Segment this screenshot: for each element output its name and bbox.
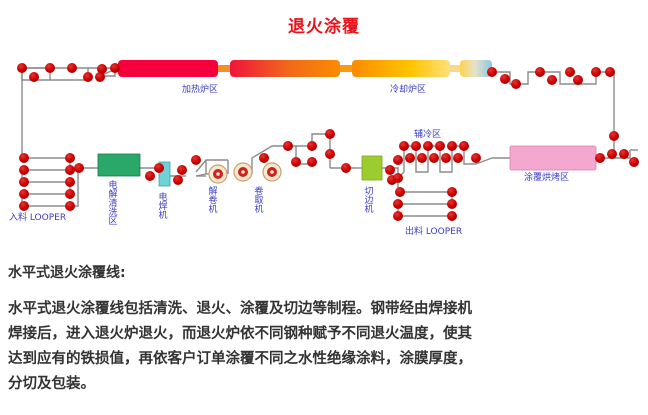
page-title: 退火涂覆 [0, 12, 648, 37]
process-flow-diagram: 加热炉区 冷却炉区 辅冷区 入料 LOOPER 出料 LOOPER 电解清洗区 … [0, 46, 648, 251]
furnace-connector-3 [450, 65, 460, 72]
heating-furnace-segment-2 [230, 60, 340, 77]
page-root: 退火涂覆 [0, 0, 648, 415]
label-electro-clean: 电解清洗区 [106, 180, 115, 225]
coil-recoiler [263, 163, 281, 181]
label-recoiler: 卷取机 [252, 186, 261, 213]
trimmer-box [362, 156, 382, 180]
section-heading: 水平式退火涂覆线: [8, 262, 126, 282]
label-heating-zone: 加热炉区 [182, 86, 218, 95]
furnace-connector-1 [218, 65, 230, 72]
description-paragraph: 水平式退火涂覆线包括清洗、退火、涂覆及切边等制程。钢带经由焊接机焊接后，进入退火… [8, 297, 478, 397]
label-entry-looper: 入料 LOOPER [9, 214, 66, 223]
heating-furnace-segment-1 [118, 60, 218, 77]
diagram-svg [0, 46, 648, 251]
label-welder: 电焊机 [156, 192, 165, 219]
coil-decoiler-2 [234, 163, 252, 181]
label-exit-looper: 出料 LOOPER [405, 228, 462, 237]
furnace-bars [118, 60, 492, 77]
label-aux-cooling-zone: 辅冷区 [414, 131, 441, 140]
bake-oven-box [510, 146, 596, 170]
cooling-furnace-segment-1 [352, 60, 450, 77]
electro-clean-box [98, 154, 140, 176]
label-trimmer: 切边机 [362, 186, 371, 213]
label-cooling-zone: 冷却炉区 [390, 86, 426, 95]
furnace-connector-2 [340, 65, 352, 72]
coil-decoiler [209, 165, 227, 183]
label-bake-zone: 涂覆烘烤区 [524, 174, 569, 183]
cooling-furnace-segment-2 [460, 60, 492, 77]
label-decoiler: 解卷机 [206, 186, 215, 213]
